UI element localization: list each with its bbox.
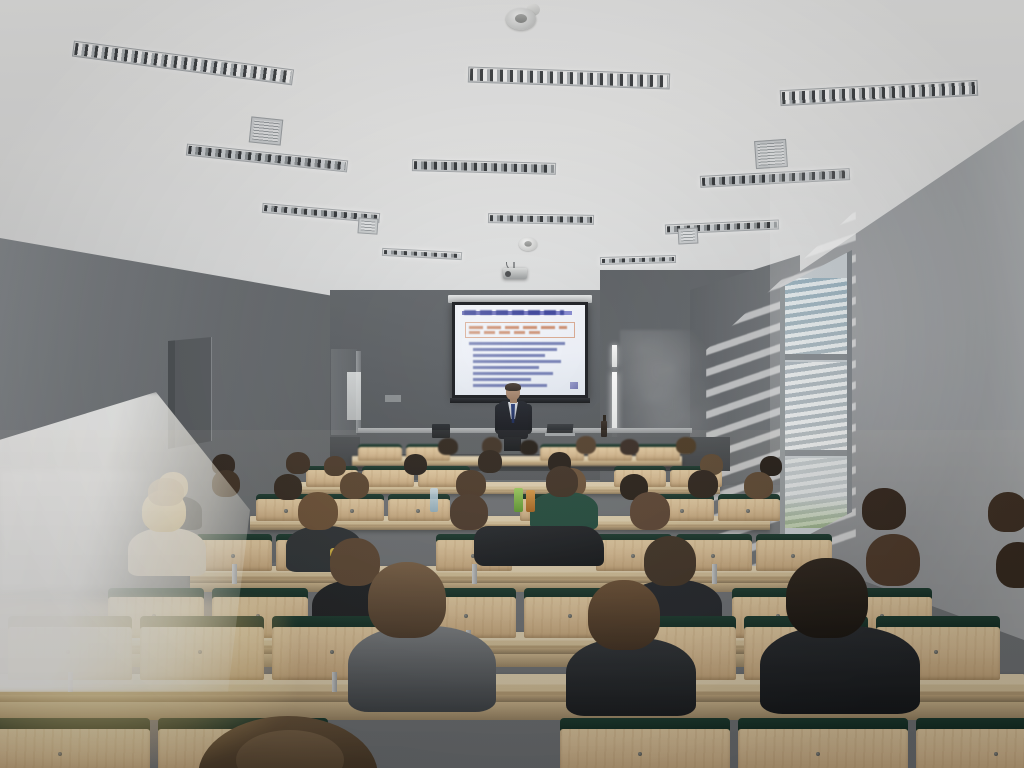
student-head (298, 492, 338, 530)
seat[interactable] (196, 534, 272, 570)
seat[interactable] (560, 718, 730, 768)
student-head (866, 534, 920, 586)
green-drink-bottle (514, 488, 523, 512)
student-head (438, 438, 458, 455)
hvac-vent-centre-right (678, 227, 699, 244)
student-head (744, 472, 773, 499)
smoke-detector (506, 4, 540, 30)
seat[interactable] (718, 494, 780, 520)
window-mullion-1 (780, 354, 852, 360)
screen-glare (458, 308, 585, 395)
seat[interactable] (636, 444, 680, 460)
student-head (546, 466, 578, 497)
seat[interactable] (8, 616, 132, 678)
seat[interactable] (738, 718, 908, 768)
student-head (576, 436, 596, 454)
hvac-vent-centre-left (357, 217, 378, 234)
seat[interactable] (358, 444, 402, 460)
student-head (786, 558, 868, 638)
student-shoulders (760, 626, 920, 714)
wall-light-slot-upper (612, 345, 617, 367)
lecture-hall-photo (0, 0, 1024, 768)
student-head (644, 536, 696, 586)
student-head (996, 542, 1024, 588)
ceiling-projector (500, 262, 530, 280)
light-fixture-8 (488, 213, 594, 225)
slide-surface (455, 305, 585, 395)
orange-drink-bottle (526, 490, 535, 512)
student-head (148, 478, 184, 506)
student-head (368, 562, 446, 638)
black-jacket-draped (474, 526, 604, 566)
student-head (324, 456, 346, 476)
student-head (212, 470, 240, 497)
hvac-vent-left (249, 116, 284, 145)
student-head (450, 494, 488, 530)
student-shoulders (530, 492, 598, 530)
venetian-blind-icon[interactable] (784, 278, 848, 354)
student-shoulders (128, 528, 206, 576)
student-head (520, 440, 538, 455)
seat[interactable] (916, 718, 1024, 768)
student-head (862, 488, 906, 530)
seat[interactable] (140, 616, 264, 678)
student-head (588, 580, 660, 650)
seat[interactable] (388, 494, 450, 520)
wall-plate (385, 395, 401, 402)
tiered-seating-area (0, 430, 1024, 768)
student-head (688, 470, 718, 498)
student-head (286, 452, 310, 474)
student-head (274, 474, 302, 500)
window-pane-top (784, 278, 848, 354)
student-head (676, 437, 696, 454)
student-head (478, 450, 502, 473)
student-head (620, 439, 639, 455)
student-head (340, 472, 369, 499)
student-shoulders (348, 626, 496, 712)
student-head (404, 454, 427, 475)
seat[interactable] (0, 718, 150, 768)
whiteboard-edge (347, 372, 361, 420)
smoke-detector-secondary (519, 235, 531, 244)
student-head (630, 492, 670, 530)
student-head (988, 492, 1024, 532)
blue-water-bottle (430, 488, 438, 512)
